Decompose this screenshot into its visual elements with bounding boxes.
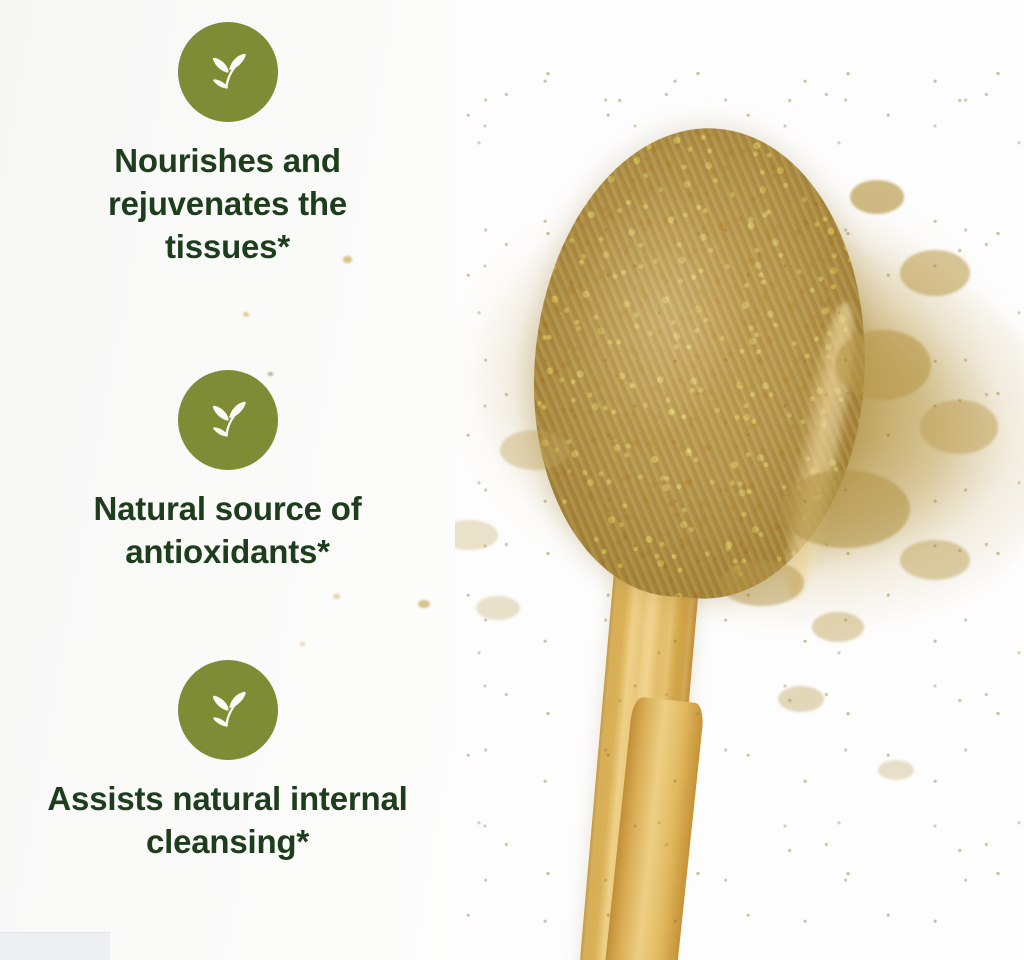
bottom-left-strip (0, 932, 110, 960)
powder-clump (780, 470, 910, 548)
powder-clump (476, 596, 520, 620)
powder-speck (343, 256, 352, 263)
sprout-leaf-icon (178, 370, 278, 470)
benefit-label: Natural source of antioxidants* (13, 488, 443, 574)
powder-clump (878, 760, 914, 780)
benefits-list: Nourishes and rejuvenates the tissues* N… (0, 0, 455, 960)
powder-speck (243, 312, 249, 317)
powder-clump (900, 250, 970, 296)
powder-clump (920, 400, 998, 454)
powder-clump (850, 180, 904, 214)
product-photo (380, 0, 1024, 960)
benefit-item-nourishes: Nourishes and rejuvenates the tissues* (0, 22, 455, 269)
powder-clump (778, 686, 824, 712)
powder-clump (812, 612, 864, 642)
benefit-item-antioxidants: Natural source of antioxidants* (0, 370, 455, 574)
benefit-item-cleansing: Assists natural internal cleansing* (0, 660, 455, 864)
powder-clump (500, 430, 570, 470)
powder-speck (300, 642, 305, 646)
powder-speck (333, 594, 340, 599)
powder-clump (720, 560, 804, 606)
sprout-leaf-icon (178, 22, 278, 122)
powder-clump (900, 540, 970, 580)
powder-speck (418, 600, 430, 608)
powder-speck (268, 372, 273, 376)
powder-clump (835, 330, 931, 400)
benefit-label: Nourishes and rejuvenates the tissues* (28, 140, 428, 269)
product-benefits-panel: Nourishes and rejuvenates the tissues* N… (0, 0, 1024, 960)
sprout-leaf-icon (178, 660, 278, 760)
benefit-label: Assists natural internal cleansing* (13, 778, 443, 864)
